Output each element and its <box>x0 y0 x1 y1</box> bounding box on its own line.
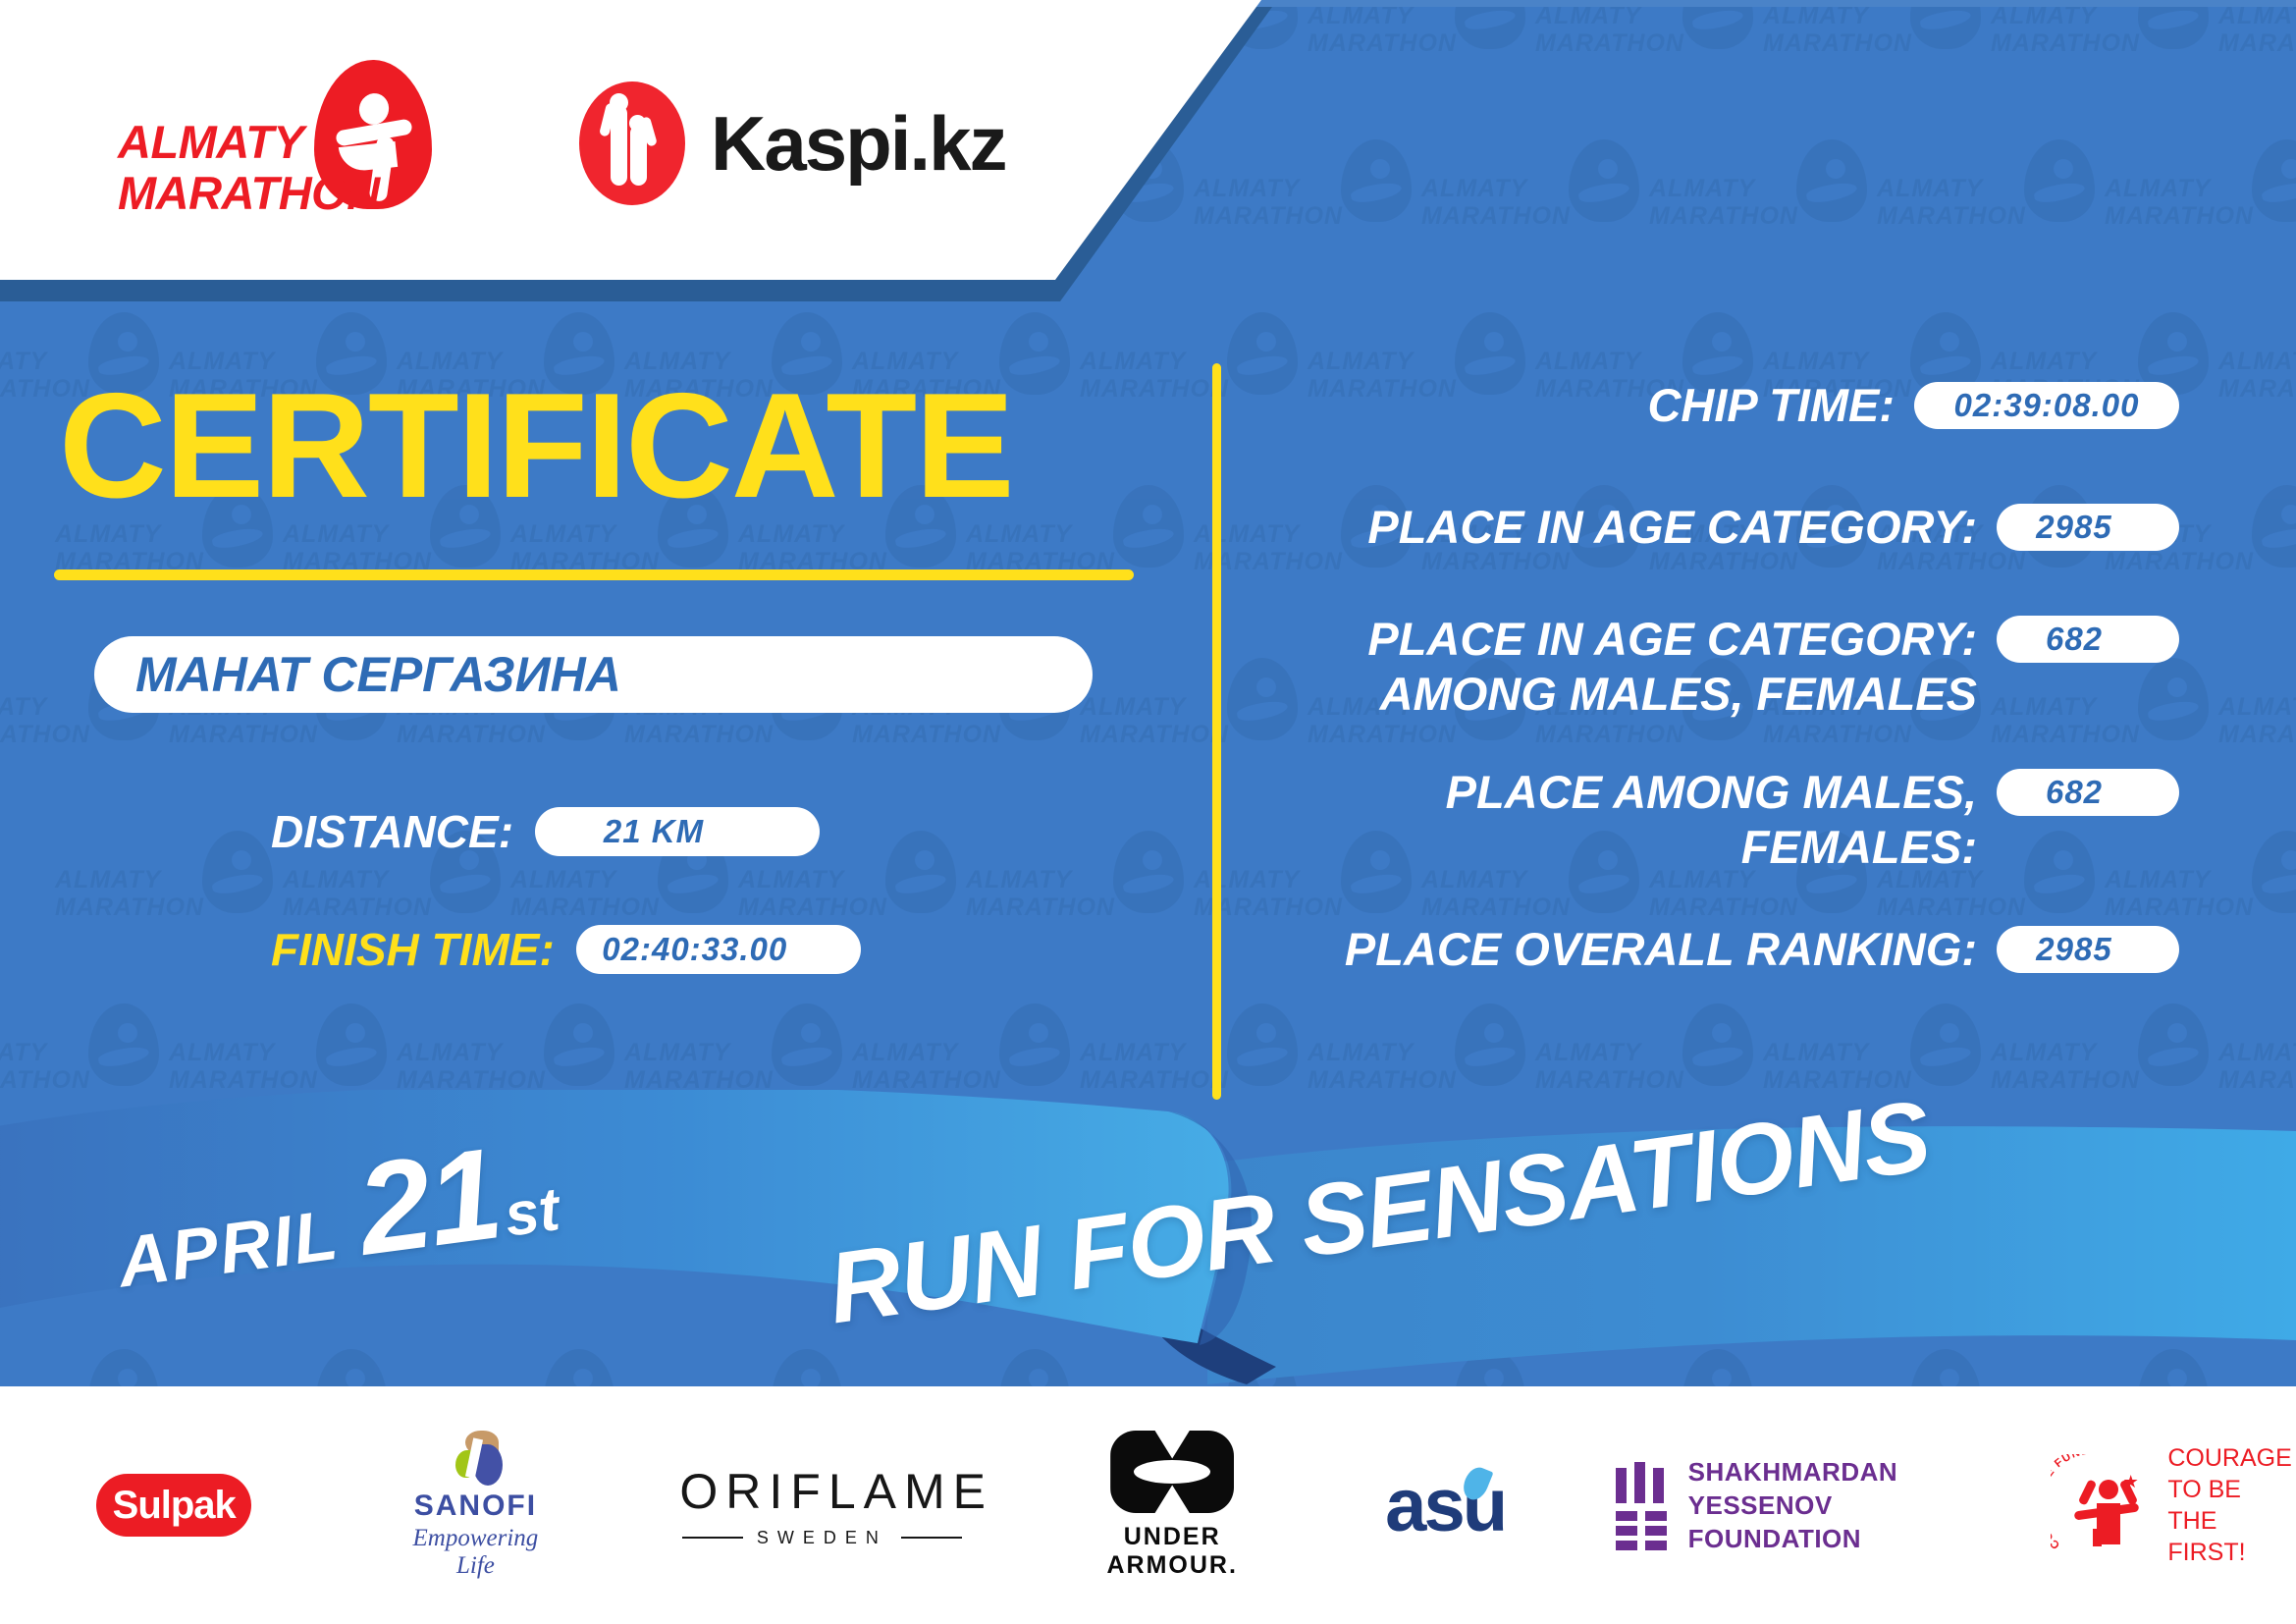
oriflame-tagline: SWEDEN <box>757 1528 887 1548</box>
watermark-tile: ALMATYMARATHON <box>1308 0 1543 137</box>
sponsor-logo-asu: asu <box>1370 1463 1520 1548</box>
stat-row-distance: DISTANCE: 21 KM <box>271 805 820 858</box>
watermark-drop-icon <box>1113 485 1184 568</box>
watermark-tile: ALMATYMARATHON <box>2105 134 2296 310</box>
watermark-line2: MARATHON <box>1763 29 1912 58</box>
yessenov-line1: SHAKHMARDAN YESSENOV <box>1688 1455 1958 1522</box>
watermark-line2: MARATHON <box>624 721 774 749</box>
watermark-drop-icon <box>1682 0 1753 49</box>
stat-value-place-age-category-among: 682 <box>2046 621 2103 658</box>
stat-row-place-overall-ranking: PLACE OVERALL RANKING: 2985 <box>1276 922 2179 977</box>
watermark-line1: ALMATY <box>1421 175 1527 203</box>
watermark-line2: MARATHON <box>1649 202 1798 231</box>
title-underline-rule <box>54 569 1134 580</box>
courage-wordmark: COURAGE TO BE THE FIRST! <box>2167 1442 2296 1568</box>
courage-line3: THE FIRST! <box>2167 1505 2296 1568</box>
participant-name-field: МАНАТ СЕРГАЗИНА <box>94 636 1093 713</box>
watermark-drop-icon <box>2252 485 2296 568</box>
watermark-line1: ALMATY <box>0 1039 47 1067</box>
yessenov-wordmark: SHAKHMARDAN YESSENOV FOUNDATION <box>1688 1455 1958 1555</box>
watermark-line1: ALMATY <box>0 348 47 376</box>
watermark-tile: ALMATYMARATHON <box>966 825 1201 1001</box>
stat-label-finish-time: FINISH TIME: <box>271 923 555 976</box>
yessenov-bars-icon <box>1614 1462 1662 1548</box>
almaty-marathon-logo: ALMATY MARATHON <box>118 60 442 227</box>
watermark-tile: ALMATYMARATHON <box>1535 0 1771 137</box>
sponsor-bar: Sulpak SANOFI Empowering Life ORIFLAME S… <box>0 1386 2296 1624</box>
stat-value-place-among-males-females: 682 <box>2046 774 2103 811</box>
watermark-drop-icon <box>88 1003 159 1086</box>
stat-row-chip-time: CHIP TIME: 02:39:08.00 <box>1276 378 2179 433</box>
watermark-line1: ALMATY <box>283 866 389 894</box>
stat-label-place-age-category: PLACE IN AGE CATEGORY: <box>1276 500 1997 555</box>
watermark-drop-icon <box>1341 139 1412 222</box>
watermark-drop-icon <box>316 1003 387 1086</box>
under-armour-icon <box>1110 1431 1234 1513</box>
watermark-tile: ALMATYMARATHON <box>2218 652 2296 829</box>
oriflame-wordmark: ORIFLAME <box>679 1463 964 1520</box>
kaspi-logo: Kaspi.kz <box>579 81 1005 205</box>
watermark-line1: ALMATY <box>1991 348 2097 376</box>
stat-pill-place-age-category-among: 682 <box>1997 616 2179 663</box>
watermark-tile: ALMATYMARATHON <box>55 825 291 1001</box>
watermark-tile: ALMATYMARATHON <box>1649 134 1885 310</box>
oriflame-sub: SWEDEN <box>679 1528 964 1548</box>
courage-figure-icon: CORPORATE FUND ★ <box>2053 1454 2151 1556</box>
watermark-line1: ALMATY <box>1535 348 1641 376</box>
watermark-line1: ALMATY <box>2105 175 2211 203</box>
watermark-line1: ALMATY <box>1080 1039 1186 1067</box>
stat-pill-place-among-males-females: 682 <box>1997 769 2179 816</box>
watermark-drop-icon <box>544 1003 614 1086</box>
sponsor-logo-sanofi: SANOFI Empowering Life <box>397 1431 554 1580</box>
oriflame-rule-right <box>901 1537 962 1539</box>
watermark-line2: MARATHON <box>169 721 318 749</box>
courage-line2: TO BE <box>2167 1474 2296 1505</box>
watermark-tile: ALMATYMARATHON <box>1763 0 1999 137</box>
sponsor-logo-sulpak: Sulpak <box>96 1474 251 1537</box>
watermark-line1: ALMATY <box>1535 1039 1641 1067</box>
watermark-line1: ALMATY <box>624 1039 730 1067</box>
watermark-line1: ALMATY <box>1763 1039 1869 1067</box>
sanofi-leaf-icon <box>444 1431 507 1486</box>
watermark-line1: ALMATY <box>169 1039 275 1067</box>
watermark-drop-icon <box>2024 139 2095 222</box>
stat-label-place-overall-ranking: PLACE OVERALL RANKING: <box>1276 922 1997 977</box>
stat-value-distance: 21 KM <box>604 813 704 850</box>
header-bar: ALMATY MARATHON Kaspi.kz <box>0 7 1261 280</box>
stat-value-finish-time: 02:40:33.00 <box>602 931 787 968</box>
watermark-line2: MARATHON <box>1535 29 1684 58</box>
watermark-line1: ALMATY <box>0 693 47 722</box>
kaspi-people-oval-icon <box>579 81 685 205</box>
stat-label-chip-time: CHIP TIME: <box>1276 378 1914 433</box>
stat-row-place-age-category: PLACE IN AGE CATEGORY: 2985 <box>1276 500 2179 555</box>
watermark-line2: MARATHON <box>2105 202 2254 231</box>
under-armour-wordmark: UNDER ARMOUR. <box>1090 1523 1255 1580</box>
stat-pill-distance: 21 KM <box>535 807 820 856</box>
watermark-drop-icon <box>2252 139 2296 222</box>
almaty-marathon-wordmark: ALMATY MARATHON <box>118 117 380 219</box>
watermark-line2: MARATHON <box>1308 29 1457 58</box>
watermark-tile: ALMATYMARATHON <box>2218 306 2296 483</box>
stat-row-place-among-males-females: PLACE AMONG MALES, FEMALES: 682 <box>1276 765 2179 875</box>
sponsor-logo-courage-fund: CORPORATE FUND ★ COURAGE TO BE THE FIRST… <box>2053 1442 2296 1568</box>
watermark-line1: ALMATY <box>1763 348 1869 376</box>
watermark-line1: ALMATY <box>738 866 844 894</box>
yessenov-line2: FOUNDATION <box>1688 1522 1958 1555</box>
stat-pill-place-overall-ranking: 2985 <box>1997 926 2179 973</box>
watermark-line2: MARATHON <box>1991 29 2140 58</box>
watermark-line1: ALMATY <box>852 1039 958 1067</box>
stat-row-finish-time: FINISH TIME: 02:40:33.00 <box>271 923 861 976</box>
watermark-line1: ALMATY <box>1991 1039 2097 1067</box>
watermark-tile: ALMATYMARATHON <box>1991 0 2226 137</box>
stat-pill-chip-time: 02:39:08.00 <box>1914 382 2179 429</box>
watermark-line2: MARATHON <box>283 893 432 922</box>
asu-wordmark: asu <box>1370 1463 1520 1548</box>
watermark-line2: MARATHON <box>1877 202 2026 231</box>
watermark-line2: MARATHON <box>55 893 204 922</box>
stat-pill-place-age-category: 2985 <box>1997 504 2179 551</box>
watermark-line2: MARATHON <box>2218 375 2296 404</box>
almaty-marathon-line2: MARATHON <box>118 168 380 219</box>
watermark-drop-icon <box>1569 139 1639 222</box>
watermark-line2: MARATHON <box>1421 202 1571 231</box>
watermark-line1: ALMATY <box>55 866 161 894</box>
watermark-drop-icon <box>999 1003 1070 1086</box>
watermark-drop-icon <box>1910 0 1981 49</box>
watermark-drop-icon <box>885 831 956 913</box>
results-stats-panel: CHIP TIME: 02:39:08.00 PLACE IN AGE CATE… <box>1276 378 2179 1022</box>
watermark-drop-icon <box>772 1003 842 1086</box>
watermark-line2: MARATHON <box>738 893 887 922</box>
stat-pill-finish-time: 02:40:33.00 <box>576 925 861 974</box>
stat-label-place-among-males-females: PLACE AMONG MALES, FEMALES: <box>1276 765 1997 875</box>
watermark-line2: MARATHON <box>1080 375 1229 404</box>
participant-name-value: МАНАТ СЕРГАЗИНА <box>135 646 621 703</box>
watermark-line1: ALMATY <box>1308 1039 1414 1067</box>
stat-value-chip-time: 02:39:08.00 <box>1954 387 2140 424</box>
watermark-tile: ALMATYMARATHON <box>1421 134 1657 310</box>
watermark-drop-icon <box>1113 831 1184 913</box>
watermark-drop-icon <box>2138 0 2209 49</box>
watermark-drop-icon <box>202 831 273 913</box>
watermark-line1: ALMATY <box>1649 175 1755 203</box>
watermark-line1: ALMATY <box>1080 348 1186 376</box>
watermark-line2: MARATHON <box>852 721 1001 749</box>
oriflame-rule-left <box>682 1537 743 1539</box>
sulpak-wordmark: Sulpak <box>113 1484 236 1528</box>
event-date-month: APRIL <box>113 1195 344 1304</box>
watermark-line1: ALMATY <box>510 866 616 894</box>
stat-value-place-age-category: 2985 <box>2036 509 2111 546</box>
watermark-line1: ALMATY <box>966 866 1072 894</box>
watermark-line1: ALMATY <box>1080 693 1186 722</box>
sponsor-logo-oriflame: ORIFLAME SWEDEN <box>679 1463 964 1548</box>
almaty-marathon-line1: ALMATY <box>118 117 380 168</box>
watermark-line2: MARATHON <box>1080 721 1229 749</box>
stat-label-place-age-category-among: PLACE IN AGE CATEGORY: AMONG MALES, FEMA… <box>1276 612 1997 722</box>
stat-row-place-age-category-among: PLACE IN AGE CATEGORY: AMONG MALES, FEMA… <box>1276 612 2179 722</box>
sanofi-tagline: Empowering Life <box>397 1525 554 1580</box>
watermark-line1: ALMATY <box>2218 693 2296 722</box>
watermark-tile: ALMATYMARATHON <box>2218 0 2296 137</box>
certificate-canvas: ALMATYMARATHONALMATYMARATHONALMATYMARATH… <box>0 0 2296 1624</box>
stat-label-distance: DISTANCE: <box>271 805 513 858</box>
sanofi-wordmark: SANOFI <box>397 1489 554 1523</box>
sponsor-logo-yessenov-foundation: SHAKHMARDAN YESSENOV FOUNDATION <box>1614 1455 1957 1555</box>
watermark-line2: MARATHON <box>2218 721 2296 749</box>
watermark-drop-icon <box>1455 0 1525 49</box>
vertical-divider <box>1212 363 1221 1100</box>
watermark-line1: ALMATY <box>2218 348 2296 376</box>
watermark-drop-icon <box>1796 139 1867 222</box>
watermark-line2: MARATHON <box>510 893 660 922</box>
courage-line1: COURAGE <box>2167 1442 2296 1474</box>
watermark-drop-icon <box>2252 831 2296 913</box>
watermark-line2: MARATHON <box>966 893 1115 922</box>
watermark-line2: MARATHON <box>397 721 546 749</box>
event-date-suffix: st <box>501 1174 563 1251</box>
sponsor-logo-under-armour: UNDER ARMOUR. <box>1090 1431 1255 1580</box>
watermark-line2: MARATHON <box>2218 29 2296 58</box>
kaspi-wordmark: Kaspi.kz <box>711 99 1005 189</box>
watermark-line2: MARATHON <box>0 721 90 749</box>
watermark-line1: ALMATY <box>1877 175 1983 203</box>
watermark-line1: ALMATY <box>2218 1039 2296 1067</box>
page-title: CERTIFICATE <box>59 371 1013 520</box>
watermark-line1: ALMATY <box>1308 348 1414 376</box>
watermark-line1: ALMATY <box>397 1039 503 1067</box>
event-date-day: 21 <box>349 1118 507 1283</box>
watermark-tile: ALMATYMARATHON <box>1877 134 2112 310</box>
stat-value-place-overall-ranking: 2985 <box>2036 931 2111 968</box>
